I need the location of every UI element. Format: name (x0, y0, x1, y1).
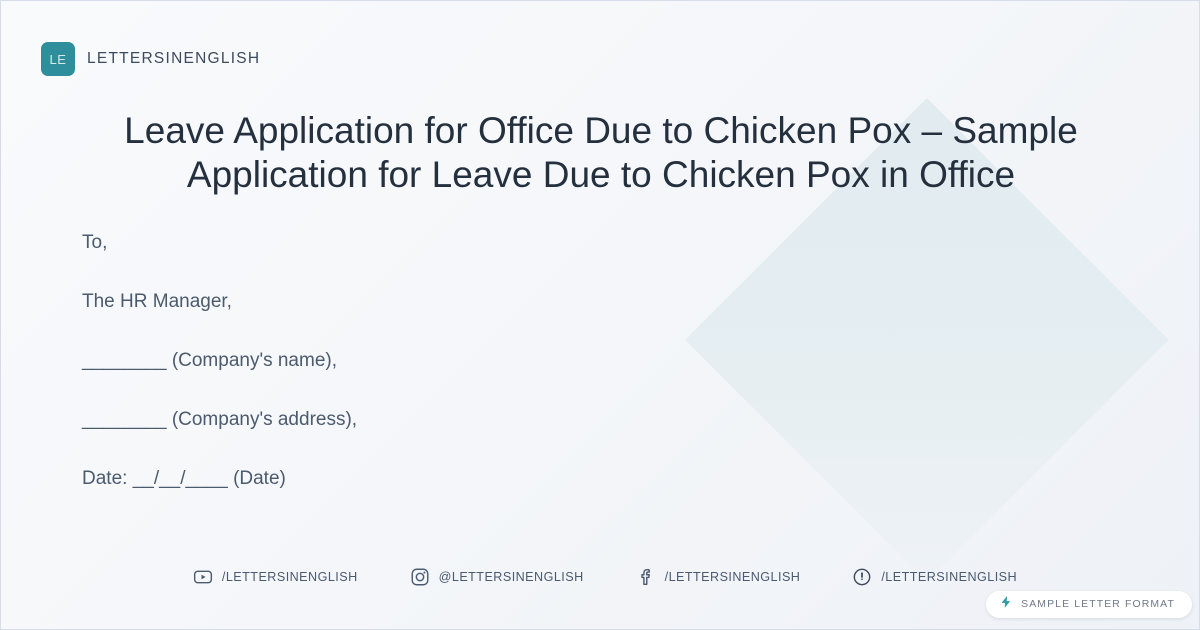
letter-line: The HR Manager, (82, 291, 842, 313)
brand-logo[interactable]: LE LETTERSINENGLISH (41, 42, 260, 76)
social-link-facebook[interactable]: /LETTERSINENGLISH (636, 567, 801, 587)
brand-badge-icon: LE (41, 42, 75, 76)
instagram-icon (410, 567, 430, 587)
social-handle: /LETTERSINENGLISH (665, 570, 801, 584)
social-links-row: /LETTERSINENGLISH @LETTERSINENGLISH /LET… (1, 567, 1200, 587)
social-link-instagram[interactable]: @LETTERSINENGLISH (410, 567, 584, 587)
letter-line: To, (82, 232, 842, 254)
social-handle: @LETTERSINENGLISH (439, 570, 584, 584)
letter-line: Date: __/__/____ (Date) (82, 468, 842, 490)
sample-letter-format-badge[interactable]: SAMPLE LETTER FORMAT (986, 591, 1192, 618)
letter-body: To, The HR Manager, ________ (Company's … (82, 232, 842, 490)
format-badge-label: SAMPLE LETTER FORMAT (1021, 599, 1175, 610)
youtube-icon (193, 567, 213, 587)
lightning-bolt-icon (999, 595, 1013, 614)
brand-name-label: LETTERSINENGLISH (87, 50, 260, 68)
facebook-icon (636, 567, 656, 587)
letter-line: ________ (Company's address), (82, 409, 842, 431)
social-link-pinterest[interactable]: /LETTERSINENGLISH (852, 567, 1017, 587)
page-title: Leave Application for Office Due to Chic… (81, 109, 1121, 197)
pinterest-icon (852, 567, 872, 587)
social-handle: /LETTERSINENGLISH (881, 570, 1017, 584)
share-card: LE LETTERSINENGLISH Leave Application fo… (0, 0, 1200, 630)
letter-line: ________ (Company's name), (82, 350, 842, 372)
social-handle: /LETTERSINENGLISH (222, 570, 358, 584)
social-link-youtube[interactable]: /LETTERSINENGLISH (193, 567, 358, 587)
